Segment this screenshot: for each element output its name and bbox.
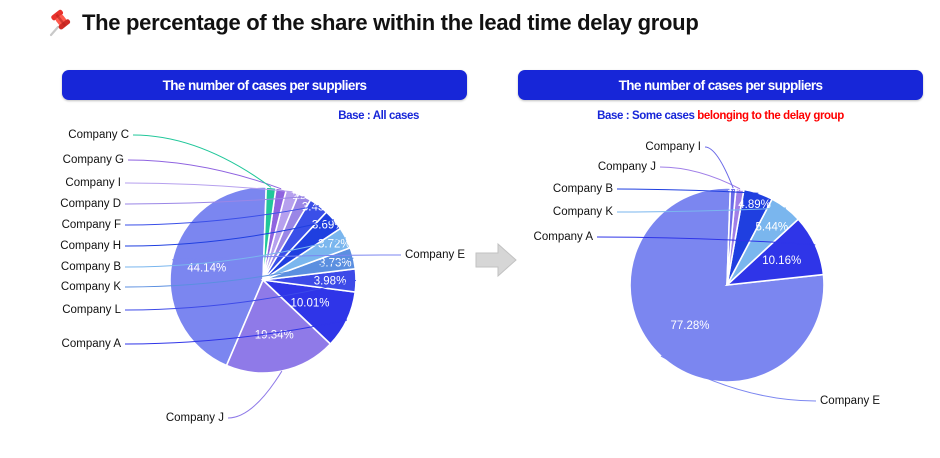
pie-slice-label: Company A [62, 338, 122, 350]
pie-slice-percent: 1.67% [259, 173, 285, 183]
pie-slice-percent: 3.72% [318, 239, 351, 251]
pie-slice-label: Company F [62, 219, 121, 231]
pie-slice-label: Company E [405, 249, 465, 261]
pie-slice-percent: 2.29% [293, 191, 319, 201]
pie-slice-label: Company G [63, 154, 124, 166]
right-panel-header: The number of cases per suppliers [518, 70, 923, 100]
pie-slice-percent: 1.8% [272, 178, 293, 188]
right-panel-subtitle-blue: Base : Some cases [597, 110, 694, 122]
slide-root: The percentage of the share within the l… [0, 0, 940, 458]
pie-slice-percent: 10.01% [290, 297, 329, 309]
pie-slice-percent: 77.28% [670, 320, 709, 332]
pie-slice-label: Company D [60, 198, 121, 210]
right-panel-subtitle: Base : Some cases belonging to the delay… [518, 110, 923, 122]
left-panel-subtitle-blue: Base : All cases [338, 110, 419, 122]
pie-slice-percent: 44.14% [187, 263, 226, 275]
pie-slice-label: Company J [166, 412, 224, 424]
right-panel-header-label: The number of cases per suppliers [619, 78, 823, 93]
pie-slice-label: Company B [61, 261, 121, 273]
pie-slice-label: Company E [820, 395, 880, 407]
right-panel-subtitle-red: belonging to the delay group [697, 110, 844, 122]
pie-slice-label: Company K [61, 281, 121, 293]
pie-slice-label: Company C [68, 129, 129, 141]
pie-slice-label: Company J [598, 161, 656, 173]
left-panel-header: The number of cases per suppliers [62, 70, 467, 100]
right-pie-chart: 77.28%10.16%5.44%4.89%1.32%0.92%Company … [480, 0, 940, 458]
pie-slice-percent: 0.92% [721, 178, 747, 188]
left-pie-chart: 44.14%19.34%10.01%3.98%3.73%3.72%3.69%3.… [0, 0, 470, 458]
pie-slice-percent: 3.73% [319, 258, 352, 270]
right-arrow-icon [472, 236, 520, 289]
right-panel: The number of cases per suppliers Base :… [518, 70, 923, 122]
pie-slice-label: Company B [553, 183, 613, 195]
pie-slice-percent: 5.44% [755, 222, 788, 234]
charts-layer: 44.14%19.34%10.01%3.98%3.73%3.72%3.69%3.… [0, 0, 940, 458]
pie-slice-label: Company H [60, 240, 121, 252]
pie-slice-percent: 19.34% [255, 330, 294, 342]
pie-slice-percent: 4.89% [738, 199, 771, 211]
pie-slice-percent: 3.69% [312, 220, 345, 232]
page-title-row: The percentage of the share within the l… [46, 8, 698, 38]
left-panel-subtitle: Base : All cases [62, 110, 467, 122]
pie-slice-label: Company A [534, 231, 594, 243]
left-panel: The number of cases per suppliers Base :… [62, 70, 467, 122]
pie-slice-label: Company I [645, 141, 701, 153]
pie-slice-label: Company I [65, 177, 121, 189]
pie-slice-percent: 1.32% [727, 183, 753, 193]
pie-slice-percent: 10.16% [762, 255, 801, 267]
pie-slice-percent: 3.98% [314, 275, 347, 287]
page-title: The percentage of the share within the l… [82, 12, 698, 34]
left-panel-header-label: The number of cases per suppliers [163, 78, 367, 93]
pie-slice-percent: 2.2% [284, 183, 305, 193]
pushpin-icon [46, 8, 72, 38]
pie-slice-label: Company L [62, 304, 121, 316]
pie-slice-percent: 3.43% [302, 201, 335, 213]
pie-slice-label: Company K [553, 206, 613, 218]
